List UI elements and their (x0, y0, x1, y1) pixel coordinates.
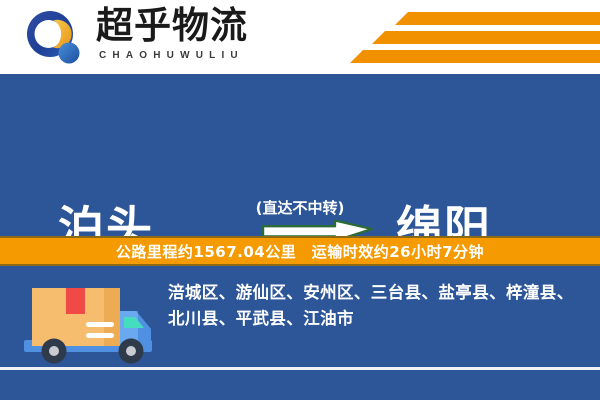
stripe-3 (350, 50, 600, 63)
direct-shipping-note: (直达不中转) (0, 197, 600, 218)
route-panel: 泊头 (直达不中转) 【往返运输】 绵阳 (0, 76, 600, 236)
ground-divider-line (0, 367, 600, 370)
coverage-area: 涪城区、游仙区、安州区、三台县、盐亭县、梓潼县、北川县、平武县、江油市 (0, 266, 600, 400)
delivery-truck-icon (18, 278, 158, 370)
distance-duration-bar: 公路里程约1567.04公里 运输时效约26小时7分钟 (0, 236, 600, 266)
brand-header: 超乎物流 CHAOHUWULIU (0, 0, 600, 74)
stripe-2 (372, 31, 600, 44)
header-stripes-decoration (350, 0, 600, 74)
brand-name-en: CHAOHUWULIU (99, 50, 244, 61)
circle-q-logo-icon (26, 10, 82, 66)
logistics-route-banner: 超乎物流 CHAOHUWULIU 泊头 (直达不中转) 【往返运输】 绵阳 公路… (0, 0, 600, 400)
coverage-districts-text: 涪城区、游仙区、安州区、三台县、盐亭县、梓潼县、北川县、平武县、江油市 (168, 280, 580, 332)
brand-name-cn: 超乎物流 (96, 4, 248, 48)
distance-duration-text: 公路里程约1567.04公里 运输时效约26小时7分钟 (116, 241, 484, 262)
stripe-1 (395, 12, 600, 25)
